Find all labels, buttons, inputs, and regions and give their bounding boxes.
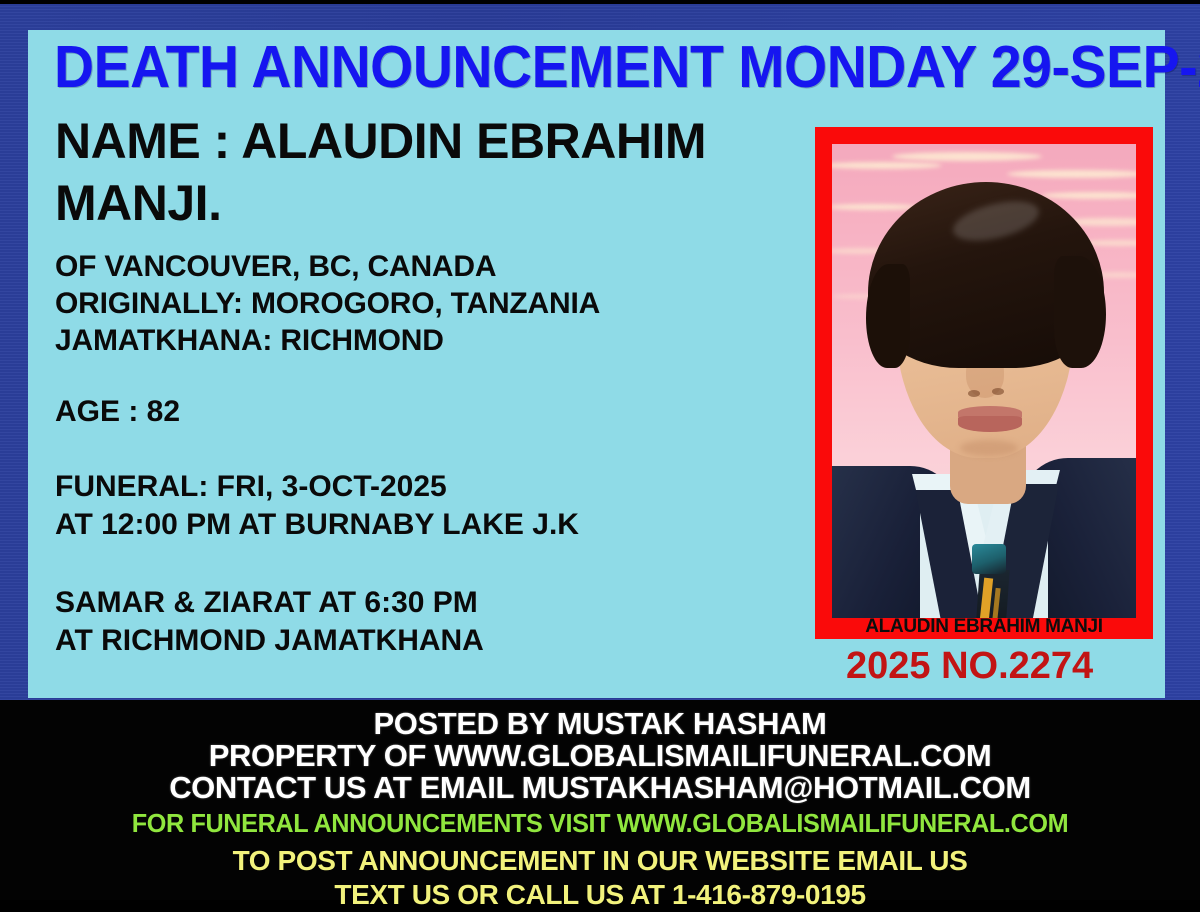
deceased-name-line-1: NAME : ALAUDIN EBRAHIM <box>55 110 825 172</box>
page-title: DEATH ANNOUNCEMENT MONDAY 29-SEP-2025 <box>54 36 1097 98</box>
necktie-knot <box>972 544 1006 574</box>
hair-side-left <box>866 264 910 368</box>
funeral-line-1: FUNERAL: FRI, 3-OCT-2025 <box>55 468 825 506</box>
deceased-name-line-2: MANJI. <box>55 172 825 234</box>
portrait-figure <box>832 144 1136 618</box>
funeral-line-2: AT 12:00 PM AT BURNABY LAKE J.K <box>55 506 825 544</box>
footer-banner: POSTED BY MUSTAK HASHAM PROPERTY OF WWW.… <box>0 700 1200 900</box>
photo-caption: ALAUDIN EBRAHIM MANJI <box>832 617 1136 637</box>
reference-number: 2025 NO.2274 <box>846 644 1166 688</box>
portrait-photo-frame: ALAUDIN EBRAHIM MANJI <box>815 127 1153 639</box>
nostril-left <box>968 390 980 397</box>
announcement-details: NAME : ALAUDIN EBRAHIM MANJI. OF VANCOUV… <box>55 110 825 660</box>
nostril-right <box>992 388 1004 395</box>
samar-ziarat-line-1: SAMAR & ZIARAT AT 6:30 PM <box>55 584 825 622</box>
hair-side-right <box>1054 256 1106 368</box>
death-announcement-poster: DEATH ANNOUNCEMENT MONDAY 29-SEP-2025 NA… <box>0 0 1200 900</box>
residence-line: OF VANCOUVER, BC, CANADA <box>55 248 825 285</box>
portrait-photo <box>832 144 1136 618</box>
chin-shading <box>960 440 1018 456</box>
footer-announcements-visit: FOR FUNERAL ANNOUNCEMENTS VISIT WWW.GLOB… <box>18 807 1182 840</box>
samar-ziarat-line-2: AT RICHMOND JAMATKHANA <box>55 622 825 660</box>
footer-post-announcement: TO POST ANNOUNCEMENT IN OUR WEBSITE EMAI… <box>0 844 1200 878</box>
jamatkhana-line: JAMATKHANA: RICHMOND <box>55 322 825 359</box>
origin-line: ORIGINALLY: MOROGORO, TANZANIA <box>55 285 825 322</box>
lower-lip <box>958 416 1022 432</box>
age-line: AGE : 82 <box>55 393 825 430</box>
footer-contact-email: CONTACT US AT EMAIL MUSTAKHASHAM@HOTMAIL… <box>0 772 1200 804</box>
footer-property-of: PROPERTY OF WWW.GLOBALISMAILIFUNERAL.COM <box>0 740 1200 772</box>
footer-phone-line: TEXT US OR CALL US AT 1-416-879-0195 <box>0 878 1200 912</box>
footer-posted-by: POSTED BY MUSTAK HASHAM <box>0 700 1200 740</box>
